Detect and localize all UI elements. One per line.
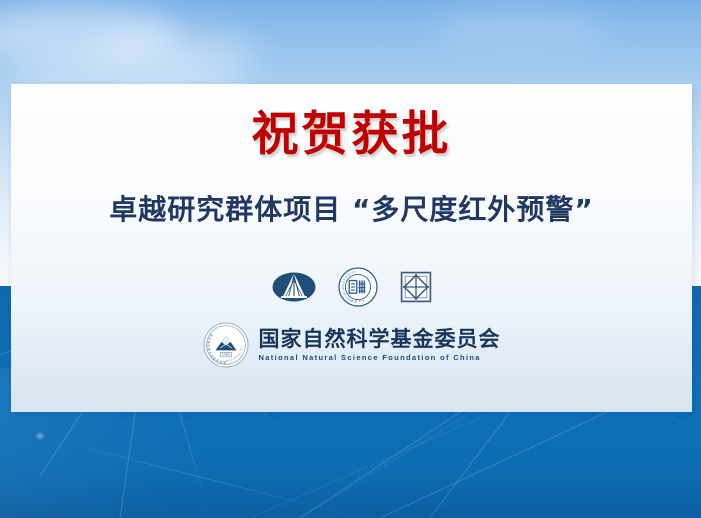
page-title: 祝贺获批 (11, 111, 692, 158)
presentation-slide: 祝贺获批 卓越研究群体项目 “多尺度红外预警” TIANJ (0, 0, 701, 518)
institute-square-logo (400, 271, 432, 303)
cloud-shape (430, 10, 610, 48)
nsfc-lockup: 国家自然科学基金委员会 NATIONAL SCIENCE FOUNDATION … (11, 322, 692, 368)
nsfc-emblem-logo: 国家自然科学基金委员会 NATIONAL SCIENCE FOUNDATION … (203, 322, 249, 368)
nsfc-name-chinese: 国家自然科学基金委员会 (259, 328, 501, 350)
project-subtitle: 卓越研究群体项目 “多尺度红外预警” (11, 195, 692, 226)
content-card: 祝贺获批 卓越研究群体项目 “多尺度红外预警” TIANJ (11, 84, 692, 412)
svg-text:1986: 1986 (222, 353, 230, 357)
institution-logo-row: TIANJIN UNIVERSITY 1 8 9 5 (11, 267, 692, 307)
tianjin-university-seal-logo: TIANJIN UNIVERSITY 1 8 9 5 (338, 267, 378, 307)
tongji-university-logo (272, 268, 316, 306)
nsfc-name-english: National Natural Science Foundation of C… (259, 353, 501, 362)
svg-text:1 8 9 5: 1 8 9 5 (351, 299, 364, 303)
nsfc-name-block: 国家自然科学基金委员会 National Natural Science Fou… (259, 328, 501, 362)
